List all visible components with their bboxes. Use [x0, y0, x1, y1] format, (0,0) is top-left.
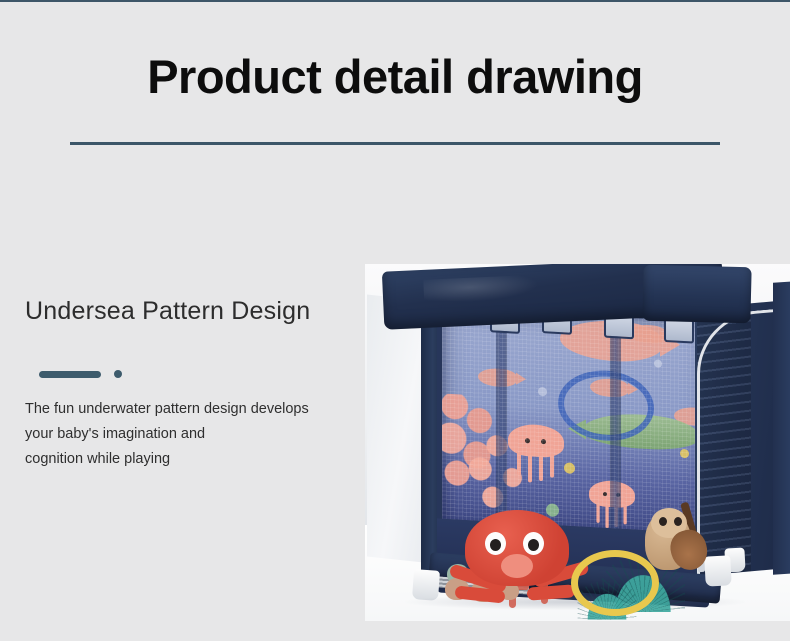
marker-bar-icon	[39, 371, 101, 378]
marker-dot-icon	[114, 370, 122, 378]
mesh-strap	[496, 311, 507, 536]
playpen-top-rail-right	[642, 265, 751, 324]
feature-description: The fun underwater pattern design develo…	[25, 397, 365, 472]
mesh-strap	[610, 317, 621, 542]
octopus-print	[449, 510, 587, 616]
decorative-marker	[39, 370, 365, 378]
bubble-print	[538, 387, 547, 397]
feature-text-block: Undersea Pattern Design The fun underwat…	[25, 296, 365, 472]
bubble-print	[654, 359, 662, 367]
product-photo	[365, 264, 790, 621]
bubble-print	[680, 449, 689, 459]
page-title: Product detail drawing	[0, 50, 790, 104]
top-border-rule	[0, 0, 790, 2]
playpen-right-post	[773, 281, 790, 575]
jellyfish-print	[508, 423, 564, 470]
bubble-print	[564, 462, 575, 474]
feature-heading: Undersea Pattern Design	[25, 296, 365, 326]
title-divider	[70, 142, 720, 145]
turtle-guitar-print	[641, 504, 713, 580]
